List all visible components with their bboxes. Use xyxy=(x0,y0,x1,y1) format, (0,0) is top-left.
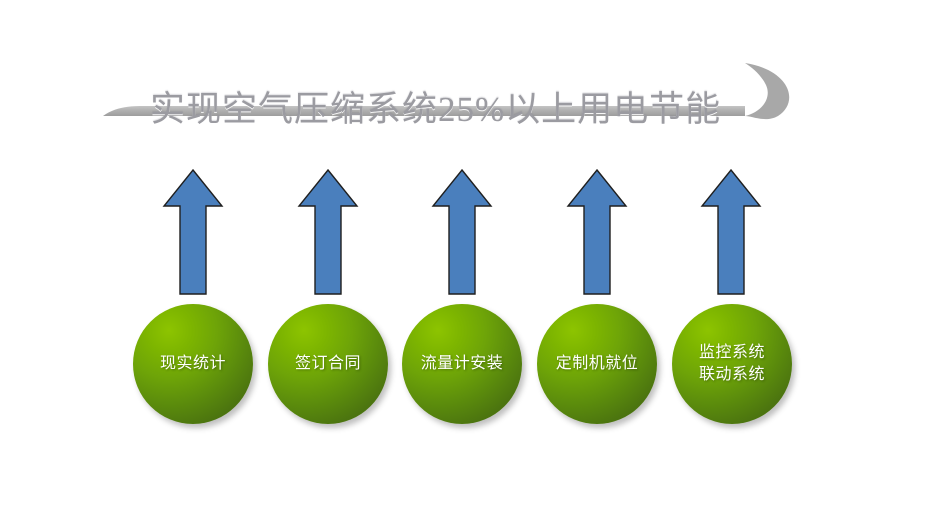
node-circle xyxy=(133,304,253,424)
process-node-1[interactable]: 现实统计 xyxy=(133,304,253,424)
up-arrow-icon-4 xyxy=(566,168,628,296)
node-circle xyxy=(268,304,388,424)
title-banner: 实现空气压缩系统25%以上用电节能 xyxy=(0,30,945,145)
process-node-3[interactable]: 流量计安装 xyxy=(402,304,522,424)
process-node-5[interactable]: 监控系统 联动系统 xyxy=(672,304,792,424)
process-node-4[interactable]: 定制机就位 xyxy=(537,304,657,424)
page-title: 实现空气压缩系统25%以上用电节能 xyxy=(150,75,750,137)
node-circle xyxy=(672,304,792,424)
up-arrow-icon-5 xyxy=(700,168,762,296)
node-circle xyxy=(402,304,522,424)
up-arrow-icon-2 xyxy=(297,168,359,296)
node-circle xyxy=(537,304,657,424)
process-node-2[interactable]: 签订合同 xyxy=(268,304,388,424)
slide-canvas: 实现空气压缩系统25%以上用电节能 现实统计 签订合同 流量计安装 xyxy=(0,0,945,529)
up-arrow-icon-1 xyxy=(162,168,224,296)
banner-shape-icon xyxy=(0,30,945,145)
up-arrow-icon-3 xyxy=(431,168,493,296)
